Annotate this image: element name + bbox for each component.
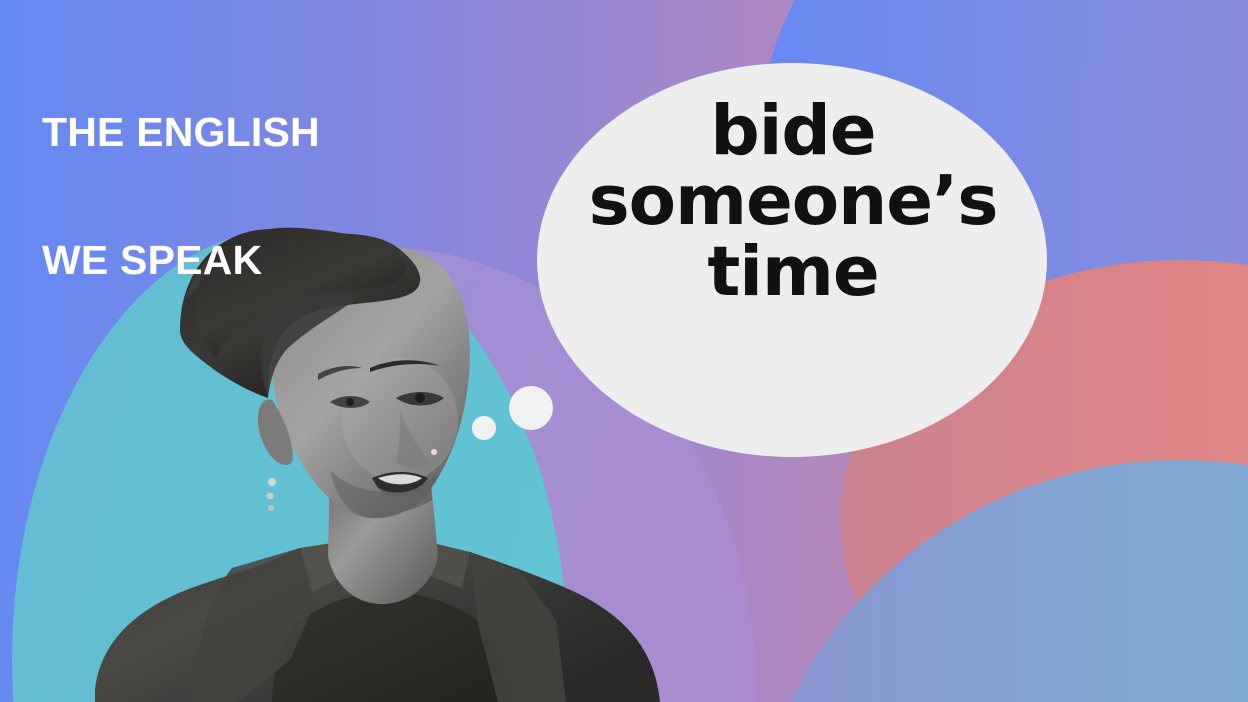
phrase-line-1: bide: [553, 96, 1033, 166]
phrase-line-2: someone’s: [553, 166, 1033, 236]
nose-stud: [431, 449, 437, 455]
thought-dot-small: [472, 416, 496, 440]
phrase-line-3: time: [553, 237, 1033, 307]
thought-dot-large: [509, 386, 553, 430]
title-line-1: THE ENGLISH: [42, 111, 320, 154]
title-line-2: WE SPEAK: [42, 239, 320, 282]
speech-bubble-text: bide someone’s time: [553, 96, 1033, 426]
video-thumbnail: THE ENGLISH WE SPEAK bide someone’s time: [0, 0, 1248, 702]
page-title: THE ENGLISH WE SPEAK: [42, 26, 320, 367]
